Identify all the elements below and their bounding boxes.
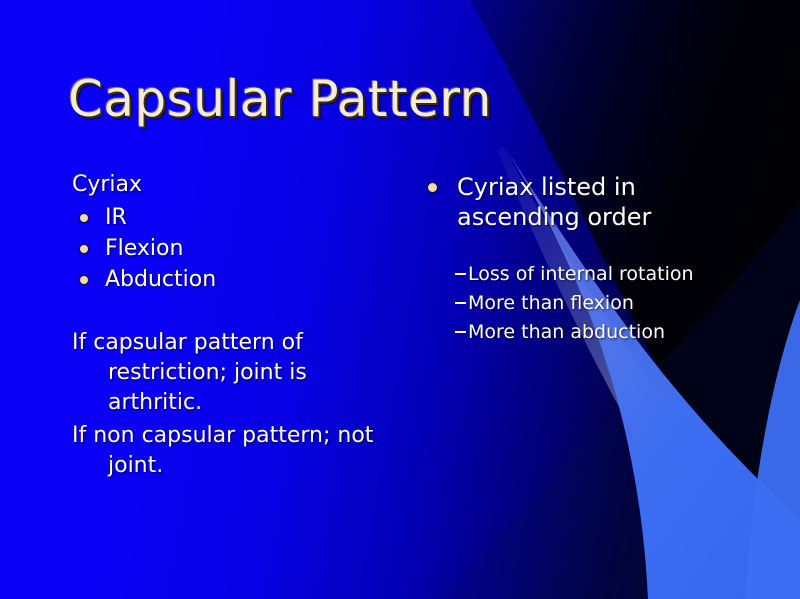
list-item-label: IR <box>105 205 127 230</box>
right-sub-bullet-list: Loss of internal rotation More than flex… <box>415 262 745 345</box>
page-title: Capsular Pattern <box>68 70 492 128</box>
bullet-dash-icon <box>455 273 466 275</box>
list-item: Flexion <box>72 233 392 264</box>
slide-canvas: Capsular Pattern Cyriax IR Flexion Abduc… <box>0 0 800 599</box>
right-main-bullet: Cyriax listed in ascending order <box>415 172 745 232</box>
list-item-label: Flexion <box>105 236 183 261</box>
bullet-dot-icon <box>80 245 88 253</box>
left-paragraph-group: If capsular pattern of restriction; join… <box>72 328 392 481</box>
left-lead-text: Cyriax <box>72 172 392 198</box>
paragraph: If non capsular pattern; not joint. <box>72 421 392 481</box>
left-content-column: Cyriax IR Flexion Abduction If capsular … <box>72 172 392 484</box>
list-item-label: Abduction <box>105 267 216 292</box>
swoosh-edge-shape <box>745 300 800 599</box>
list-item-label: Loss of internal rotation <box>468 263 694 285</box>
list-item: Loss of internal rotation <box>415 262 745 287</box>
bullet-dash-icon <box>455 302 466 304</box>
list-item-label: More than flexion <box>468 292 634 314</box>
bullet-dash-icon <box>455 331 466 333</box>
list-item: More than flexion <box>415 291 745 316</box>
right-content-column: Cyriax listed in ascending order Loss of… <box>415 172 745 349</box>
list-item-label: More than abduction <box>468 321 665 343</box>
paragraph: If capsular pattern of restriction; join… <box>72 328 392 418</box>
bullet-dot-icon <box>80 214 88 222</box>
bullet-dot-icon <box>80 276 88 284</box>
list-item: Abduction <box>72 264 392 295</box>
list-item: More than abduction <box>415 320 745 345</box>
right-main-bullet-label: Cyriax listed in ascending order <box>457 173 651 231</box>
list-item: IR <box>72 202 392 233</box>
left-bullet-list: IR Flexion Abduction <box>72 202 392 295</box>
bullet-dot-icon <box>428 183 437 192</box>
